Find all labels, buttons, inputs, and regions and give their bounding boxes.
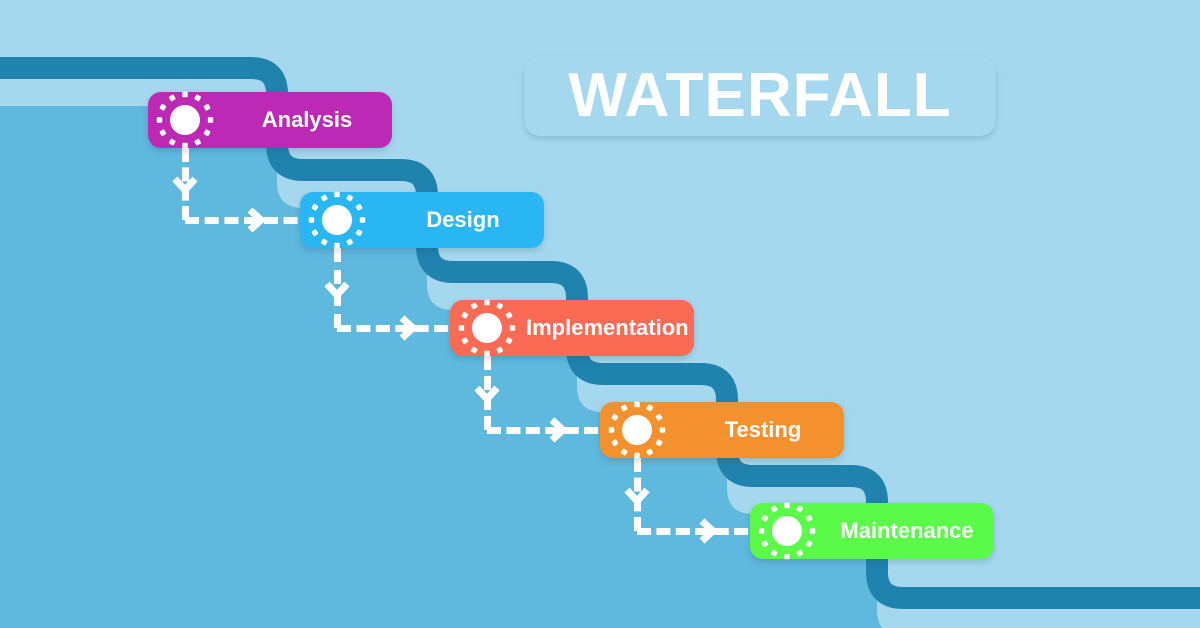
sun-gear-icon xyxy=(154,89,216,151)
stage-badge-design[interactable]: Design xyxy=(300,192,544,248)
arrow-right-icon-testing-to-maintenance xyxy=(695,518,721,544)
stage-icon-analysis xyxy=(154,89,216,151)
diagram-title: WATERFALL xyxy=(568,65,951,127)
sun-gear-icon xyxy=(606,399,668,461)
arrow-right-icon-design-to-implementation xyxy=(395,315,421,341)
diagram-title-banner: WATERFALL xyxy=(524,56,996,136)
arrow-down-icon-testing-to-maintenance xyxy=(624,483,650,509)
stage-icon-design xyxy=(306,189,368,251)
stage-badge-analysis[interactable]: Analysis xyxy=(148,92,392,148)
arrow-down-icon-design-to-implementation xyxy=(324,277,350,303)
arrow-down-icon-analysis-to-design xyxy=(172,172,198,198)
arrow-right-icon-analysis-to-design xyxy=(243,207,269,233)
stage-label-design: Design xyxy=(392,207,534,233)
stage-icon-maintenance xyxy=(756,500,818,562)
sun-gear-icon xyxy=(756,500,818,562)
stage-label-maintenance: Maintenance xyxy=(830,518,984,544)
stage-badge-maintenance[interactable]: Maintenance xyxy=(750,503,994,559)
arrow-down-icon-implementation-to-testing xyxy=(474,381,500,407)
stage-icon-implementation xyxy=(456,297,518,359)
arrow-right-icon-implementation-to-testing xyxy=(545,417,571,443)
stage-label-testing: Testing xyxy=(692,417,834,443)
stage-label-implementation: Implementation xyxy=(526,315,684,341)
stage-icon-testing xyxy=(606,399,668,461)
stage-label-analysis: Analysis xyxy=(232,107,382,133)
stage-badge-testing[interactable]: Testing xyxy=(600,402,844,458)
sun-gear-icon xyxy=(456,297,518,359)
sun-gear-icon xyxy=(306,189,368,251)
stage-badge-implementation[interactable]: Implementation xyxy=(450,300,694,356)
waterfall-diagram: WATERFALL Analysis Design Implementation… xyxy=(0,0,1200,628)
